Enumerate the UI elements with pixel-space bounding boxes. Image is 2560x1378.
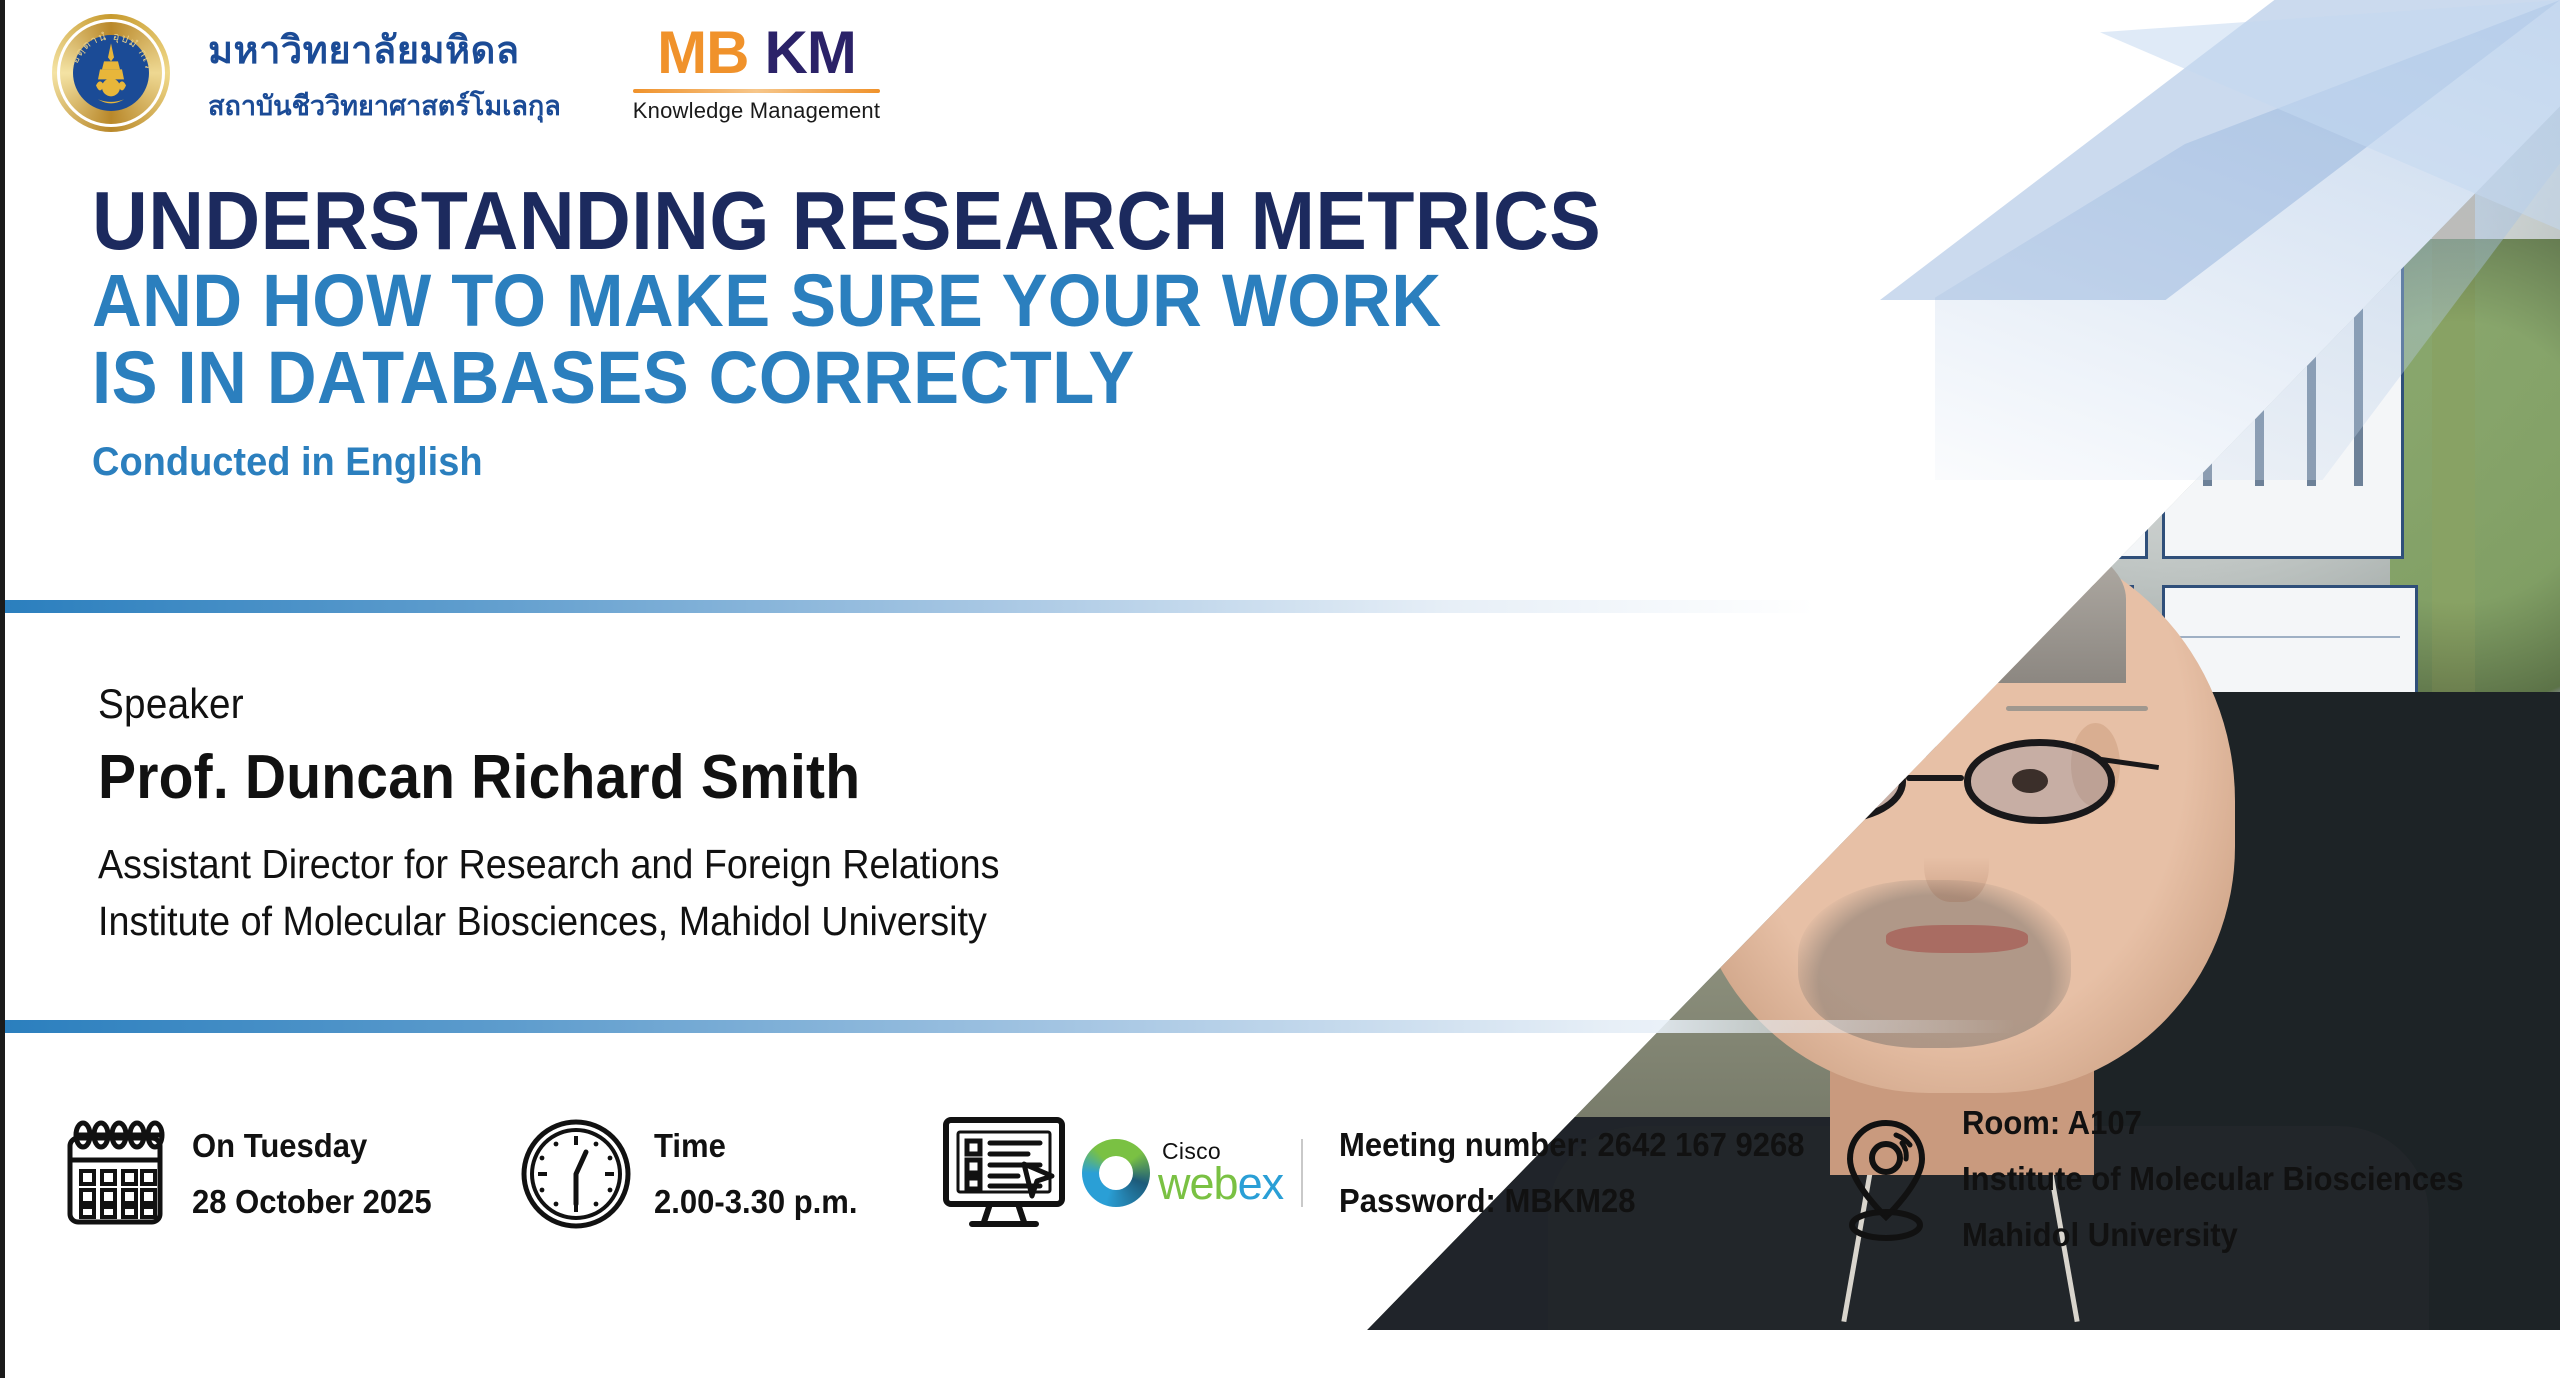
- event-date-item: On Tuesday 28 October 2025: [60, 1118, 447, 1230]
- mahidol-seal-icon: อตฺตานํ อุปมํ กเร: [52, 14, 170, 132]
- speaker-role: Assistant Director for Research and Fore…: [98, 841, 999, 888]
- university-logo-text: มหาวิทยาลัยมหิดล สถาบันชีววิทยาศาสตร์โมเ…: [208, 19, 561, 127]
- event-meeting-item: Cisco webex Meeting number: 2642 167 926…: [940, 1114, 1834, 1232]
- meeting-password: Password: MBKM28: [1339, 1182, 1805, 1220]
- speaker-name: Prof. Duncan Richard Smith: [98, 742, 999, 813]
- webex-label-ex: ex: [1238, 1158, 1284, 1209]
- event-info-bar: On Tuesday 28 October 2025 Time 2.00-3.3…: [0, 1108, 2560, 1308]
- calendar-icon: [60, 1118, 170, 1230]
- poster-header: อตฺตานํ อุปมํ กเร มหาวิทยาลัยมหิดล สถาบั…: [52, 14, 880, 132]
- university-name-th: มหาวิทยาลัยมหิดล: [208, 19, 561, 80]
- divider-top: [5, 600, 1815, 613]
- divider-bottom: [5, 1020, 2015, 1033]
- mbkm-logo-subtitle: Knowledge Management: [633, 98, 880, 124]
- mbkm-logo: MB KM Knowledge Management: [633, 23, 880, 124]
- speaker-label: Speaker: [98, 680, 999, 728]
- institute-name-th: สถาบันชีววิทยาศาสตร์โมเลกุล: [208, 84, 561, 127]
- cisco-webex-logo: Cisco webex: [1082, 1139, 1303, 1207]
- time-value: 2.00-3.30 p.m.: [654, 1183, 857, 1221]
- meeting-number: Meeting number: 2642 167 9268: [1339, 1126, 1805, 1164]
- mbkm-logo-mb: MB: [657, 23, 748, 83]
- event-time-item: Time 2.00-3.30 p.m.: [520, 1118, 870, 1230]
- speaker-organization: Institute of Molecular Biosciences, Mahi…: [98, 898, 999, 945]
- mbkm-logo-km: KM: [764, 23, 855, 83]
- language-note: Conducted in English: [92, 440, 1634, 485]
- mbkm-logo-rule: [633, 89, 880, 93]
- left-edge-rule: [0, 0, 5, 1378]
- webex-mark-icon: [1082, 1139, 1150, 1207]
- date-value: 28 October 2025: [192, 1183, 432, 1221]
- title-line-2: AND HOW TO MAKE SURE YOUR WORK: [92, 263, 1601, 339]
- svg-text:อตฺตานํ อุปมํ กเร: อตฺตานํ อุปมํ กเร: [69, 31, 155, 72]
- title-line-3: IS IN DATABASES CORRECTLY: [92, 340, 1601, 416]
- event-location-item: Room: A107 Institute of Molecular Biosci…: [1832, 1104, 2496, 1254]
- time-label: Time: [654, 1127, 857, 1165]
- title-line-1: UNDERSTANDING RESEARCH METRICS: [92, 178, 1601, 263]
- clock-icon: [520, 1118, 632, 1230]
- seal-thai-text: อตฺตานํ อุปมํ กเร: [62, 24, 160, 122]
- location-institute: Institute of Molecular Biosciences: [1962, 1160, 2464, 1198]
- date-label: On Tuesday: [192, 1127, 432, 1165]
- location-university: Mahidol University: [1962, 1216, 2464, 1254]
- speaker-block: Speaker Prof. Duncan Richard Smith Assis…: [98, 680, 1078, 945]
- map-pin-icon: [1832, 1113, 1940, 1245]
- page-title: UNDERSTANDING RESEARCH METRICS AND HOW T…: [92, 178, 1715, 485]
- room-number: Room: A107: [1962, 1104, 2464, 1142]
- webex-label-web: web: [1158, 1158, 1238, 1209]
- monitor-icon: [940, 1114, 1068, 1232]
